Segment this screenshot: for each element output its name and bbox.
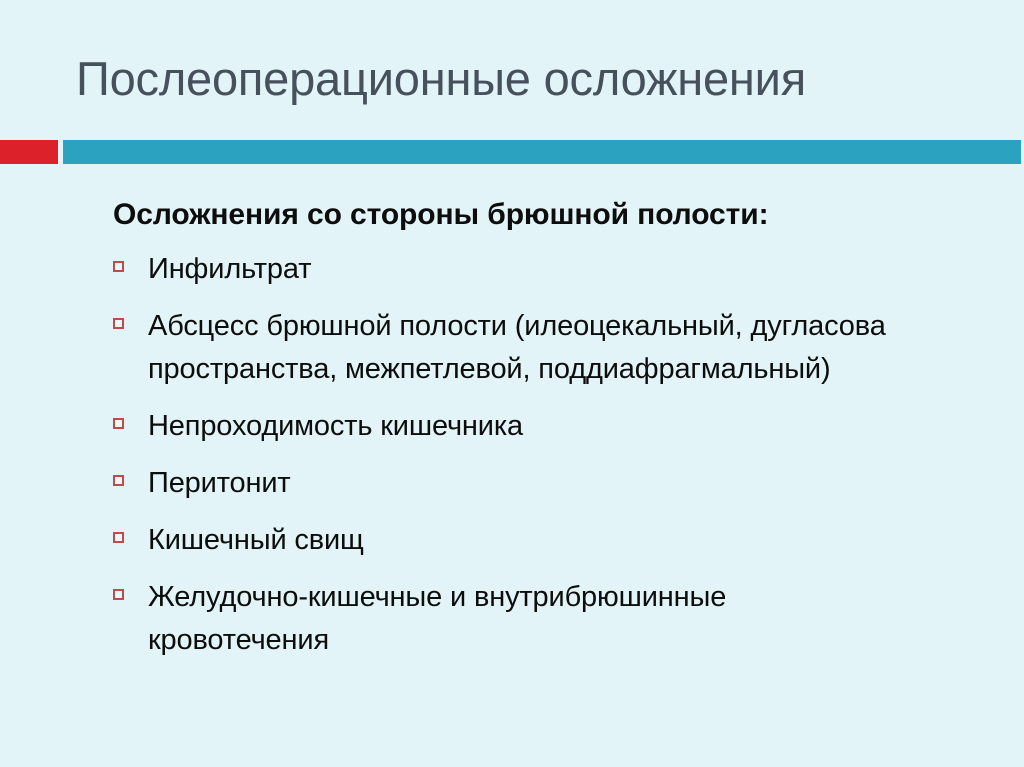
list-item-label: Инфильтрат: [148, 253, 311, 285]
slide-content: Осложнения со стороны брюшной полости: И…: [0, 196, 1024, 676]
list-item: Инфильтрат: [0, 248, 1024, 291]
list-item: Желудочно-кишечные и внутрибрюшинные кро…: [0, 576, 1024, 662]
square-bullet-icon: [113, 418, 124, 429]
square-bullet-icon: [113, 261, 124, 272]
square-bullet-icon: [113, 475, 124, 486]
slide: Послеоперационные осложнения Осложнения …: [0, 0, 1024, 767]
accent-bar-red-segment: [0, 140, 58, 164]
square-bullet-icon: [113, 589, 124, 600]
list-item: Абсцесс брюшной полости (илеоцекальный, …: [0, 305, 1024, 391]
list-item: Кишечный свищ: [0, 519, 1024, 562]
content-heading: Осложнения со стороны брюшной полости:: [113, 196, 1024, 234]
list-item: Перитонит: [0, 462, 1024, 505]
accent-bar-teal-segment: [63, 140, 1021, 164]
page-title: Послеоперационные осложнения: [76, 48, 976, 110]
list-item-label: Кишечный свищ: [148, 524, 364, 556]
list-item-label: Абсцесс брюшной полости (илеоцекальный, …: [148, 310, 886, 385]
list-item-label: Перитонит: [148, 467, 291, 499]
accent-divider-bar: [0, 140, 1024, 164]
list-item: Непроходимость кишечника: [0, 405, 1024, 448]
list-item-label: Непроходимость кишечника: [148, 410, 523, 442]
square-bullet-icon: [113, 532, 124, 543]
square-bullet-icon: [113, 318, 124, 329]
list-item-label: Желудочно-кишечные и внутрибрюшинные кро…: [148, 581, 726, 656]
complications-bullet-list: Инфильтрат Абсцесс брюшной полости (илео…: [0, 248, 1024, 662]
